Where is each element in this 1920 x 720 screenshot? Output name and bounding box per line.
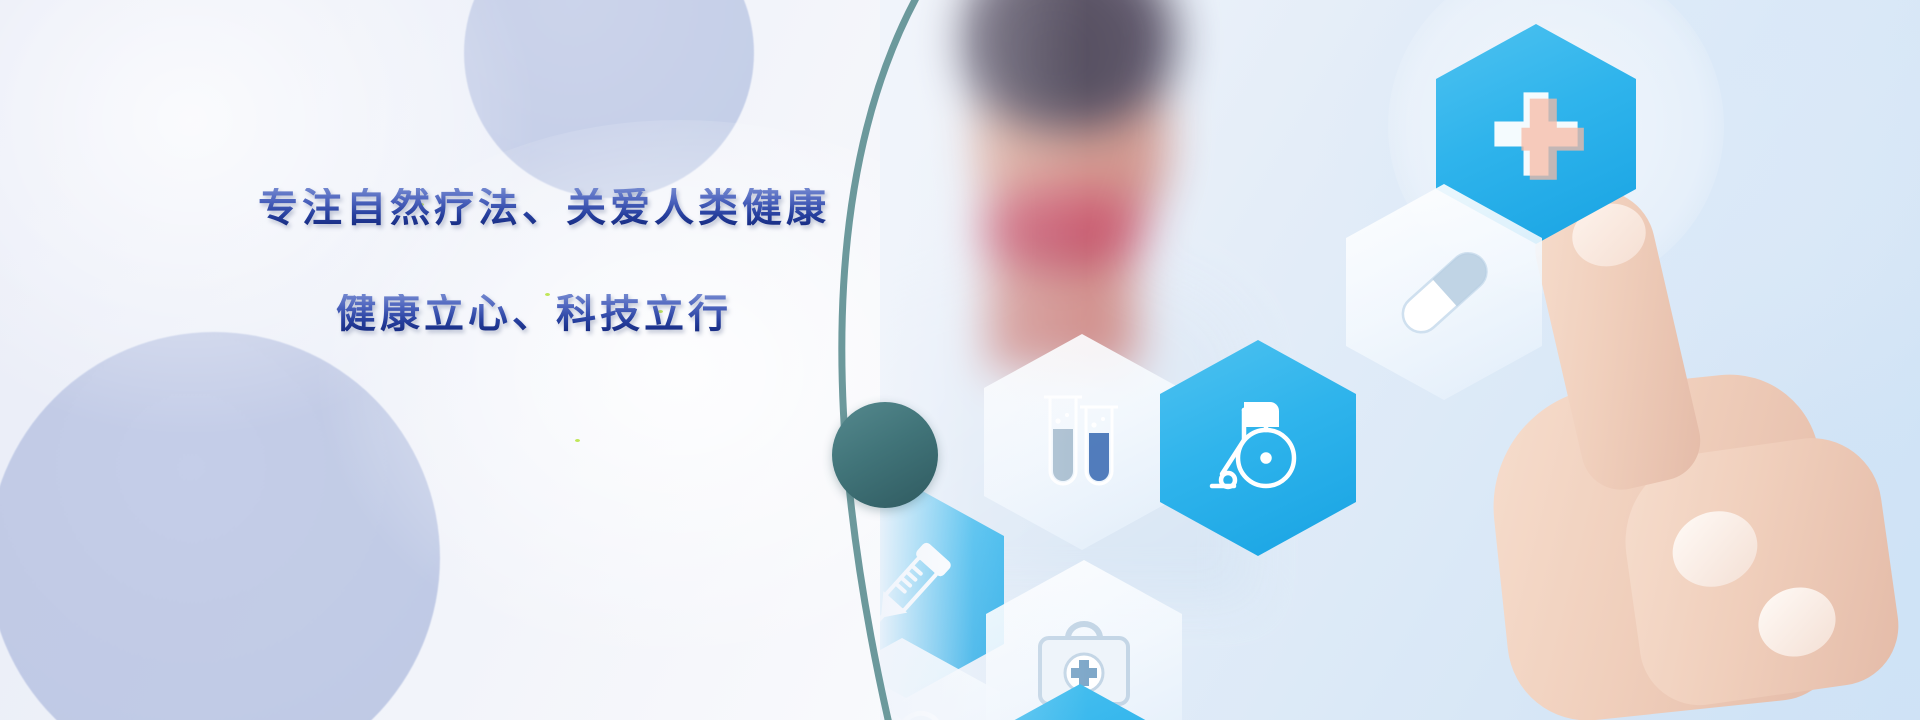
capsule-pill-icon xyxy=(1388,236,1500,348)
headline-block: 专注自然疗法、关爱人类健康 健康立心、科技立行 xyxy=(258,188,878,334)
wheelchair-icon xyxy=(1204,396,1312,500)
headline-line-1: 专注自然疗法、关爱人类健康 xyxy=(258,188,878,228)
teal-arc-node xyxy=(832,402,938,508)
headline-line-2: 健康立心、科技立行 xyxy=(336,294,878,334)
medical-cross-icon xyxy=(1484,82,1588,186)
medical-health-hero-banner: 专注自然疗法、关爱人类健康 健康立心、科技立行 xyxy=(0,0,1920,720)
teal-arc xyxy=(700,0,1120,720)
sparkle-dot xyxy=(575,439,580,442)
